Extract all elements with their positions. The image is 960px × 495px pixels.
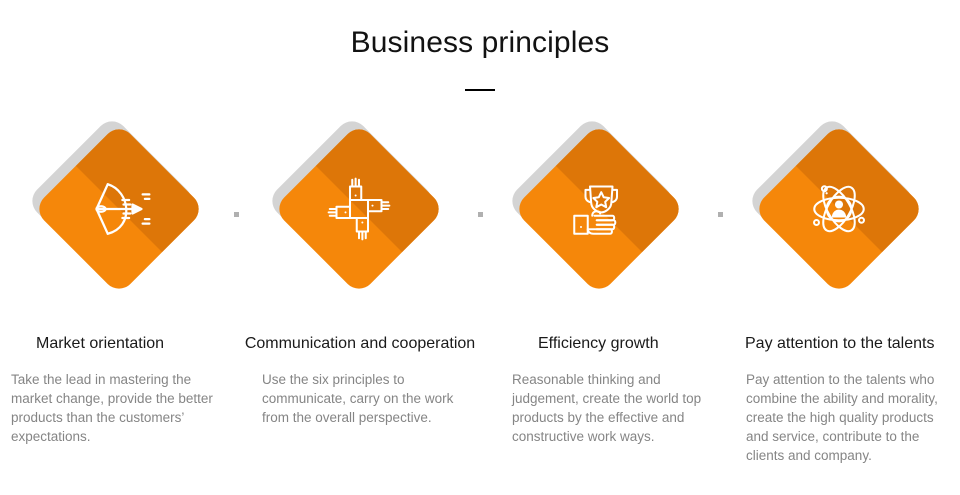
card-body: Take the lead in mastering the market ch… xyxy=(11,370,226,446)
separator-dot xyxy=(478,212,483,217)
atom-person-icon xyxy=(793,163,885,255)
diamond-badge xyxy=(22,118,218,314)
separator-dot xyxy=(234,212,239,217)
card-body: Reasonable thinking and judgement, creat… xyxy=(512,370,712,446)
diamond-badge xyxy=(742,118,938,314)
principle-card-efficiency-growth[interactable]: Efficiency growth Reasonable thinking an… xyxy=(480,0,720,495)
bow-and-arrow-icon xyxy=(73,163,165,255)
card-body: Pay attention to the talents who combine… xyxy=(746,370,951,465)
diamond-badge xyxy=(502,118,698,314)
card-title: Communication and cooperation xyxy=(240,334,480,354)
principles-grid: Market orientation Take the lead in mast… xyxy=(0,0,960,495)
four-hands-teamwork-icon xyxy=(313,163,405,255)
principle-card-talents[interactable]: Pay attention to the talents Pay attenti… xyxy=(720,0,960,495)
principle-card-market-orientation[interactable]: Market orientation Take the lead in mast… xyxy=(0,0,240,495)
hand-holding-trophy-icon xyxy=(553,163,645,255)
card-body: Use the six principles to communicate, c… xyxy=(262,370,467,427)
card-title: Market orientation xyxy=(36,334,164,354)
card-title: Efficiency growth xyxy=(538,334,659,354)
card-title: Pay attention to the talents xyxy=(745,334,934,354)
principle-card-communication-cooperation[interactable]: Communication and cooperation Use the si… xyxy=(240,0,480,495)
separator-dot xyxy=(718,212,723,217)
diamond-badge xyxy=(262,118,458,314)
